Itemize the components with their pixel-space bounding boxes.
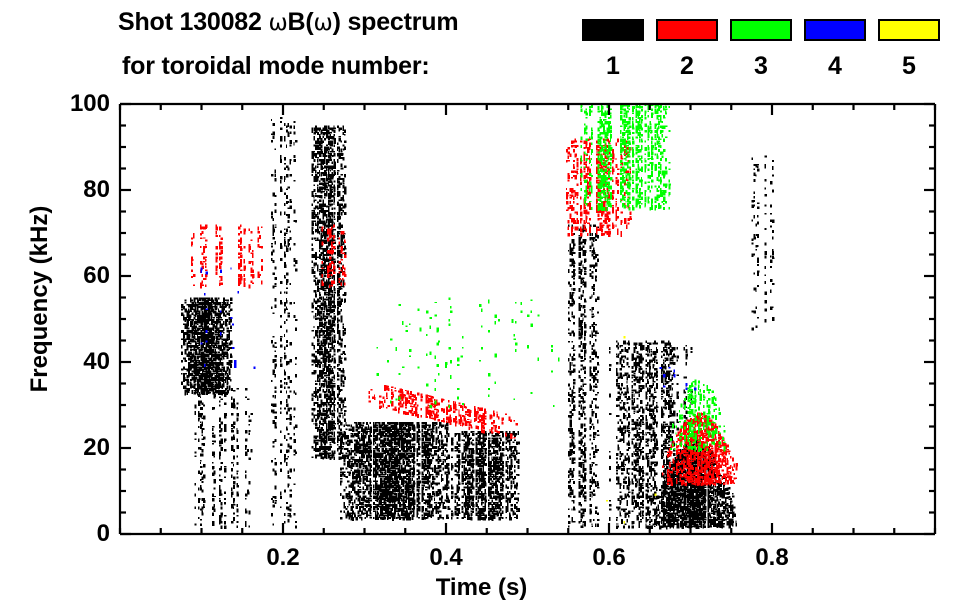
y-tick-label: 20 (46, 436, 110, 460)
x-tick-label: 0.4 (406, 546, 486, 570)
x-tick-label: 0.6 (569, 546, 649, 570)
y-tick-label: 40 (46, 350, 110, 374)
axes-group (120, 104, 935, 534)
y-tick-label: 60 (46, 264, 110, 288)
spectrogram-points-FF0000 (191, 138, 738, 486)
spectrogram-canvas (0, 0, 963, 615)
data-points-group (181, 104, 774, 529)
y-tick-label: 80 (46, 178, 110, 202)
spectrogram-figure: Shot 130082 ωB(ω) spectrum for toroidal … (0, 0, 963, 615)
x-tick-label: 0.2 (243, 546, 323, 570)
y-tick-label: 100 (46, 92, 110, 116)
plot-area (0, 0, 963, 615)
x-tick-label: 0.8 (732, 546, 812, 570)
y-tick-label: 0 (46, 522, 110, 546)
spectrogram-points-00FF00 (377, 104, 726, 452)
